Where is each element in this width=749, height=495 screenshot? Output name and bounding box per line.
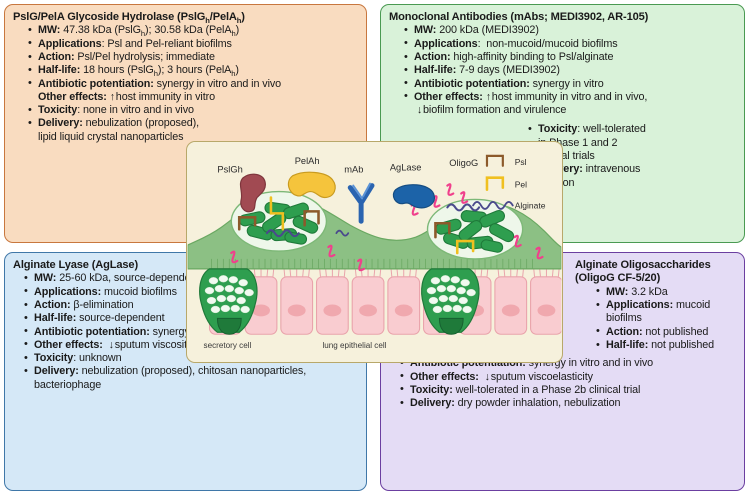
list-item: Delivery: nebulization (proposed), lipid… bbox=[27, 117, 218, 144]
list-item: Applications: Psl and Pel-reliant biofil… bbox=[27, 38, 358, 51]
list-item: Antibiotic potentiation: synergy in vitr… bbox=[403, 78, 736, 91]
legend-label-pel: Pel bbox=[515, 180, 527, 190]
panel-list-glycoside-hydrolase: MW: 47.38 kDa (PslGh); 30.58 kDa (PelAh)… bbox=[27, 24, 358, 144]
list-item: Action: Psl/Pel hydrolysis; immediate bbox=[27, 51, 358, 64]
legend-label-alginate: Alginate bbox=[515, 200, 546, 210]
panel-list-monoclonal-antibodies: MW: 200 kDa (MEDI3902) Applications: non… bbox=[403, 24, 736, 117]
caption-lung-epithelial-cell: lung epithelial cell bbox=[322, 341, 386, 350]
panel-title-glycoside-hydrolase: PslG/PelA Glycoside Hydrolase (PslGh/Pel… bbox=[13, 11, 358, 24]
central-diagram-panel: PslGh PelAh mAb AgLase OligoG Psl Pel Al… bbox=[186, 141, 563, 363]
panel-list-alginate-oligosaccharides-lower: Antibiotic potentiation: synergy in vitr… bbox=[399, 357, 736, 410]
list-item: Other effects: ↑ host immunity in vitro bbox=[27, 91, 358, 104]
list-item: biofilms bbox=[595, 312, 749, 325]
list-item: ↓ biofilm formation and virulence bbox=[403, 104, 736, 117]
list-item: Half-life: not published bbox=[595, 339, 749, 352]
list-item: Other effects: ↑ host immunity in vitro … bbox=[403, 91, 736, 104]
biofilm-diagram: PslGh PelAh mAb AgLase OligoG Psl Pel Al… bbox=[187, 142, 562, 362]
list-item: Half-life: 7-9 days (MEDI3902) bbox=[403, 64, 736, 77]
list-item: MW: 200 kDa (MEDI3902) bbox=[403, 24, 736, 37]
list-item: Other effects: ↓ sputum viscoelasticity bbox=[399, 371, 736, 384]
list-item: MW: 47.38 kDa (PslGh); 30.58 kDa (PelAh) bbox=[27, 24, 358, 37]
list-item: MW: 3.2 kDa bbox=[595, 286, 749, 299]
list-item: Toxicity: well-tolerated in a Phase 2b c… bbox=[399, 384, 736, 397]
list-item: Action: high-affinity binding to Psl/alg… bbox=[403, 51, 736, 64]
label-aglase: AgLase bbox=[390, 163, 422, 173]
list-item: Delivery: dry powder inhalation, nebuliz… bbox=[399, 397, 736, 410]
panel-list-alginate-oligosaccharides-upper: MW: 3.2 kDa Applications: mucoid biofilm… bbox=[595, 286, 749, 352]
list-item: Toxicity: none in vitro and in vivo bbox=[27, 104, 218, 117]
caption-secretory-cell: secretory cell bbox=[204, 341, 252, 350]
legend-label-psl: Psl bbox=[515, 157, 527, 167]
list-item: Antibiotic potentiation: synergy in vitr… bbox=[27, 78, 358, 91]
panel-header-block-alginate-oligosaccharides: Alginate Oligosaccharides (OligoG CF-5/2… bbox=[573, 259, 749, 352]
list-item: Applications: mucoid bbox=[595, 299, 749, 312]
label-pelah: PelAh bbox=[295, 156, 320, 166]
list-item: Action: not published bbox=[595, 326, 749, 339]
panel-title-alginate-oligosaccharides-line2: (OligoG CF-5/20) bbox=[575, 272, 749, 285]
panel-title-monoclonal-antibodies: Monoclonal Antibodies (mAbs; MEDI3902, A… bbox=[389, 11, 736, 24]
bacterial-microcolony-right bbox=[428, 199, 523, 258]
label-oligog: OligoG bbox=[449, 158, 478, 168]
list-item: Toxicity: well-tolerated bbox=[527, 123, 736, 136]
panel-title-alginate-oligosaccharides-line1: Alginate Oligosaccharides bbox=[575, 259, 749, 272]
list-item: Applications: non-mucoid/mucoid biofilms bbox=[403, 38, 736, 51]
list-item: Half-life: 18 hours (PslGh); 3 hours (Pe… bbox=[27, 64, 358, 77]
label-mab: mAb bbox=[344, 165, 363, 175]
label-pslgh: PslGh bbox=[217, 165, 242, 175]
list-item: Delivery: nebulization (proposed), chito… bbox=[23, 365, 358, 392]
